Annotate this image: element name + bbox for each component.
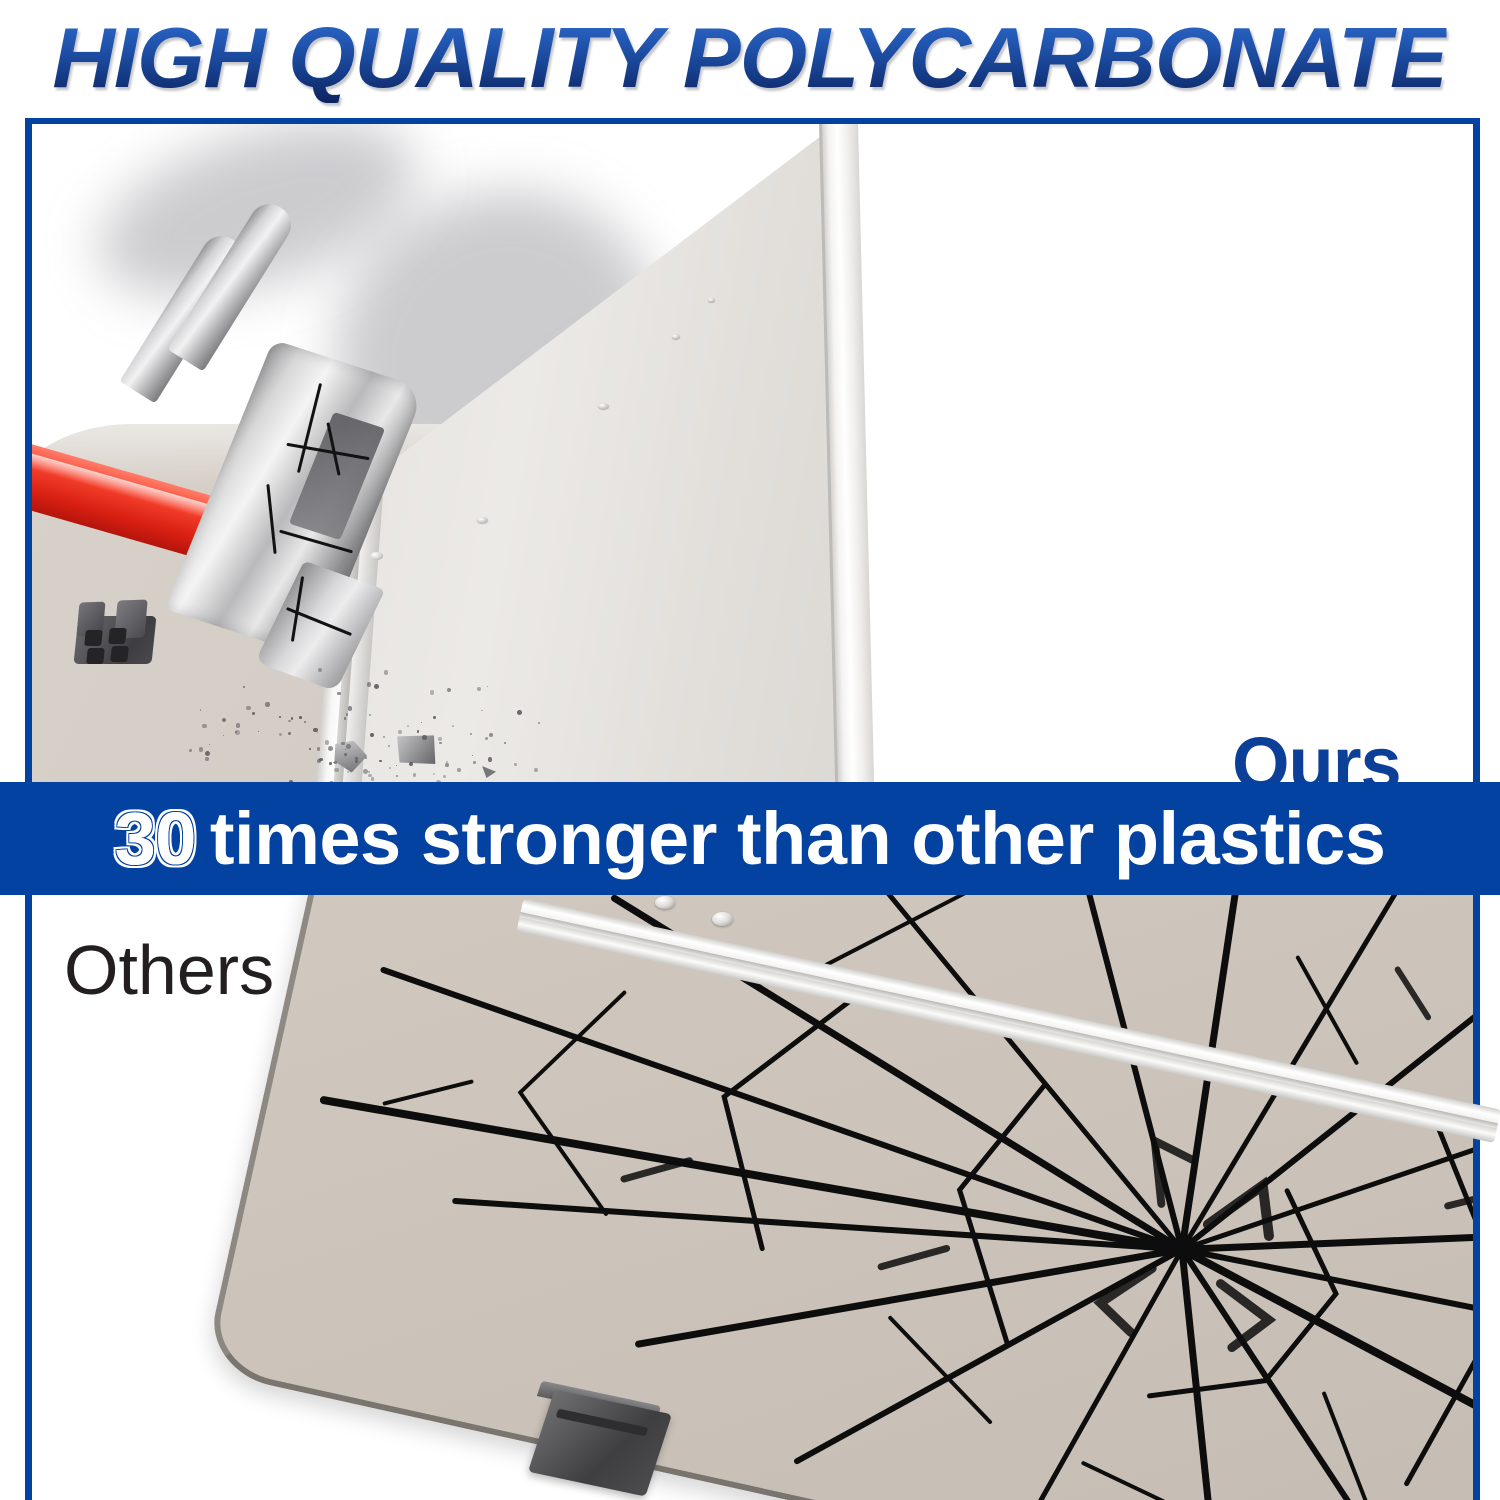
steel-dust-speck: [318, 668, 322, 672]
steel-dust-speck: [200, 709, 202, 711]
steel-dust-speck: [258, 731, 259, 732]
steel-dust-speck: [487, 686, 488, 687]
ours-scene: Ours: [32, 124, 1473, 782]
steel-dust-speck: [396, 775, 398, 777]
steel-dust-speck: [514, 763, 516, 765]
steel-dust-speck: [447, 688, 451, 692]
steel-dust-speck: [388, 745, 390, 747]
steel-dust-speck: [413, 773, 417, 777]
steel-dust-speck: [538, 722, 540, 724]
steel-dust-speck: [368, 771, 370, 773]
steel-dust-speck: [370, 733, 374, 737]
steel-dust-speck: [252, 712, 255, 715]
screw-head-icon: [708, 298, 715, 302]
steel-dust-speck: [443, 775, 446, 778]
steel-dust-speck: [279, 716, 281, 718]
strength-phrase: times stronger than other plastics: [210, 796, 1386, 881]
steel-dust-speck: [334, 768, 338, 772]
steel-dust-speck: [457, 768, 460, 771]
screw-head-icon: [672, 334, 680, 339]
steel-dust-speck: [481, 710, 483, 712]
steel-dust-speck: [445, 763, 449, 767]
strength-multiplier: 30: [115, 796, 196, 881]
steel-dust-speck: [346, 713, 348, 715]
steel-dust-speck: [452, 725, 454, 727]
steel-dust-speck: [189, 749, 192, 752]
steel-dust-speck: [199, 747, 203, 751]
headline-banner: HIGH QUALITY POLYCARBONATE: [0, 0, 1500, 118]
steel-dust-speck: [384, 670, 389, 675]
strength-banner-text: 30 times stronger than other plastics: [0, 782, 1500, 895]
steel-dust-speck: [202, 724, 207, 729]
steel-dust-speck: [369, 714, 372, 717]
steel-dust-speck: [470, 733, 473, 736]
steel-dust-speck: [209, 744, 210, 745]
steel-dust-speck: [291, 717, 293, 719]
steel-dust-speck: [265, 702, 269, 706]
steel-dust-speck: [346, 744, 351, 749]
others-label: Others: [64, 930, 274, 1010]
others-scene: Others: [32, 895, 1473, 1500]
steel-dust-speck: [279, 733, 283, 737]
steel-dust-speck: [222, 718, 226, 722]
steel-dust-speck: [347, 771, 349, 773]
steel-dust-speck: [288, 720, 291, 723]
steel-dust-speck: [485, 737, 488, 740]
steel-dust-speck: [246, 706, 251, 711]
steel-dust-speck: [348, 706, 353, 711]
steel-dust-speck: [422, 735, 427, 740]
steel-dust-speck: [367, 682, 372, 687]
steel-dust-speck: [488, 757, 493, 762]
steel-dust-speck: [504, 742, 506, 744]
steel-dust-speck: [383, 736, 385, 738]
steel-dust-speck: [489, 733, 493, 737]
steel-dust-speck: [433, 773, 435, 775]
steel-dust-speck: [365, 757, 366, 758]
steel-dust-speck: [472, 755, 473, 756]
steel-dust-speck: [407, 725, 409, 727]
steel-dust-speck: [223, 735, 224, 736]
steel-dust-speck: [325, 740, 329, 744]
steel-dust-speck: [329, 762, 331, 764]
product-comparison-poster: HIGH QUALITY POLYCARBONATE: [0, 0, 1500, 1500]
steel-dust-speck: [235, 730, 240, 735]
steel-dust-speck: [363, 769, 368, 774]
steel-dust-speck: [439, 742, 442, 745]
steel-dust-speck: [309, 748, 311, 750]
steel-dust-speck: [430, 690, 434, 694]
steel-dust-speck: [371, 777, 375, 781]
steel-dust-speck: [243, 686, 245, 688]
steel-dust-speck: [379, 760, 381, 762]
steel-dust-speck: [517, 710, 522, 715]
steel-dust-speck: [317, 732, 319, 734]
steel-dust-speck: [438, 737, 442, 741]
ours-label: Ours: [1232, 721, 1401, 782]
steel-dust-speck: [433, 716, 436, 719]
steel-dust-speck: [421, 722, 422, 723]
steel-dust-speck: [534, 768, 538, 772]
steel-dust-speck: [368, 774, 371, 777]
steel-dust-speck: [304, 721, 306, 723]
steel-dust-speck: [477, 687, 481, 691]
page-title: HIGH QUALITY POLYCARBONATE: [53, 15, 1447, 103]
screw-head-icon: [655, 896, 675, 909]
steel-dust-speck: [398, 730, 402, 734]
steel-dust-speck: [299, 716, 302, 719]
claw-hammer-icon: [32, 184, 652, 744]
steel-dust-speck: [288, 732, 292, 736]
steel-dust-speck: [374, 684, 379, 689]
steel-dust-speck: [344, 753, 347, 756]
steel-dust-speck: [344, 717, 347, 720]
steel-dust-speck: [417, 730, 420, 733]
screw-head-icon: [712, 912, 733, 926]
steel-dust-speck: [236, 723, 241, 728]
steel-dust-speck: [337, 692, 340, 695]
